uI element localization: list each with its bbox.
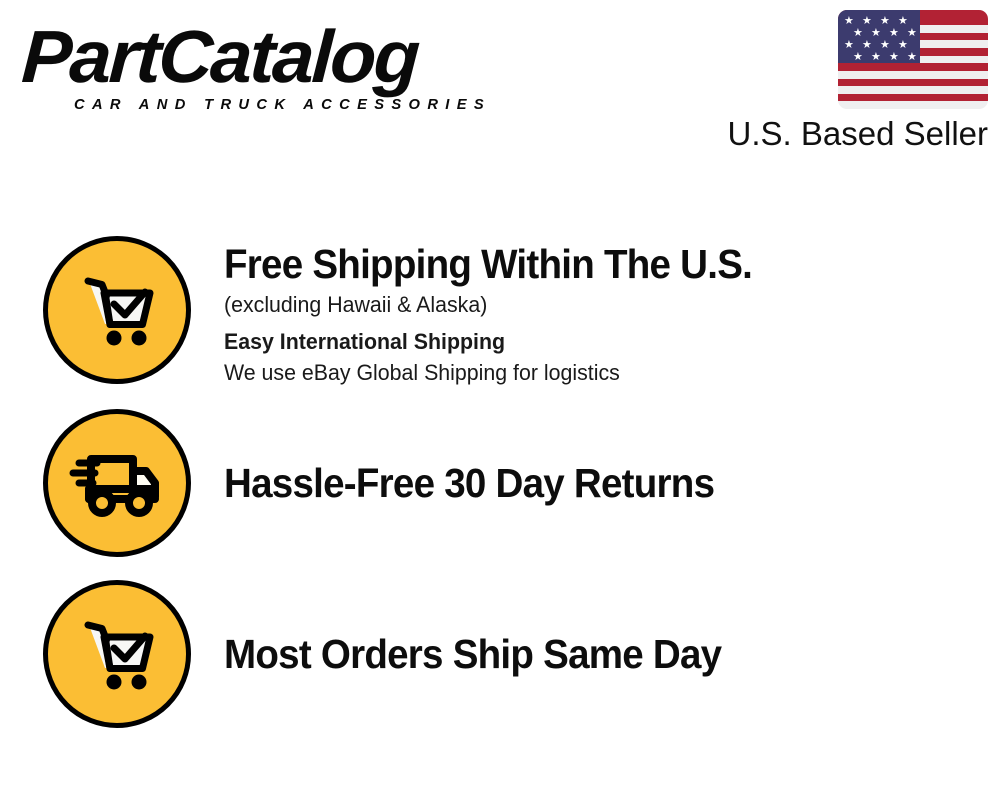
flag-star: ★: [907, 51, 917, 62]
us-based-seller-badge: ★ ★ ★ ★ ★ ★ ★ ★ ★ ★ ★ ★ ★ ★ ★ ★ U.S. Bas…: [728, 10, 988, 153]
us-based-seller-label: U.S. Based Seller: [728, 115, 988, 153]
benefit-item: Most Orders Ship Same Day: [0, 580, 1000, 728]
flag-stripe: [838, 94, 988, 102]
us-flag-icon: ★ ★ ★ ★ ★ ★ ★ ★ ★ ★ ★ ★ ★ ★ ★ ★: [838, 10, 988, 109]
brand-logo: PartCatalog CAR AND TRUCK ACCESSORIES: [22, 20, 492, 113]
shopping-cart-check-icon: [43, 236, 191, 384]
flag-star: ★: [880, 39, 890, 50]
flag-star: ★: [844, 39, 854, 50]
benefit-heading: Most Orders Ship Same Day: [224, 630, 953, 679]
benefit-subtext-international: Easy International Shipping: [224, 326, 977, 357]
benefit-subtext-exclusions: (excluding Hawaii & Alaska): [224, 289, 977, 320]
flag-star: ★: [853, 27, 863, 38]
flag-star: ★: [862, 15, 872, 26]
benefit-heading: Free Shipping Within The U.S.: [224, 240, 953, 289]
benefit-item: Free Shipping Within The U.S. (excluding…: [0, 236, 1000, 388]
benefit-heading: Hassle-Free 30 Day Returns: [224, 459, 953, 508]
flag-stripe: [838, 79, 988, 87]
flag-stripe: [838, 63, 988, 71]
shopping-cart-check-icon: [43, 580, 191, 728]
benefit-subtext-logistics: We use eBay Global Shipping for logistic…: [224, 357, 977, 388]
flag-star: ★: [889, 27, 899, 38]
brand-tagline: CAR AND TRUCK ACCESSORIES: [74, 96, 484, 113]
delivery-truck-icon: [43, 409, 191, 557]
flag-star: ★: [844, 15, 854, 26]
flag-star: ★: [898, 39, 908, 50]
flag-star: ★: [880, 15, 890, 26]
flag-star: ★: [853, 51, 863, 62]
benefit-text-block: Most Orders Ship Same Day: [224, 630, 1000, 679]
brand-wordmark: PartCatalog: [20, 20, 503, 94]
page-header: PartCatalog CAR AND TRUCK ACCESSORIES ★ …: [0, 0, 1000, 175]
flag-star: ★: [871, 27, 881, 38]
flag-star: ★: [907, 27, 917, 38]
benefit-item: Hassle-Free 30 Day Returns: [0, 409, 1000, 557]
flag-star: ★: [898, 15, 908, 26]
flag-canton: ★ ★ ★ ★ ★ ★ ★ ★ ★ ★ ★ ★ ★ ★ ★ ★: [838, 10, 920, 63]
flag-star: ★: [871, 51, 881, 62]
benefit-text-block: Free Shipping Within The U.S. (excluding…: [224, 236, 1000, 388]
flag-star: ★: [889, 51, 899, 62]
flag-star: ★: [862, 39, 872, 50]
benefit-text-block: Hassle-Free 30 Day Returns: [224, 459, 1000, 508]
